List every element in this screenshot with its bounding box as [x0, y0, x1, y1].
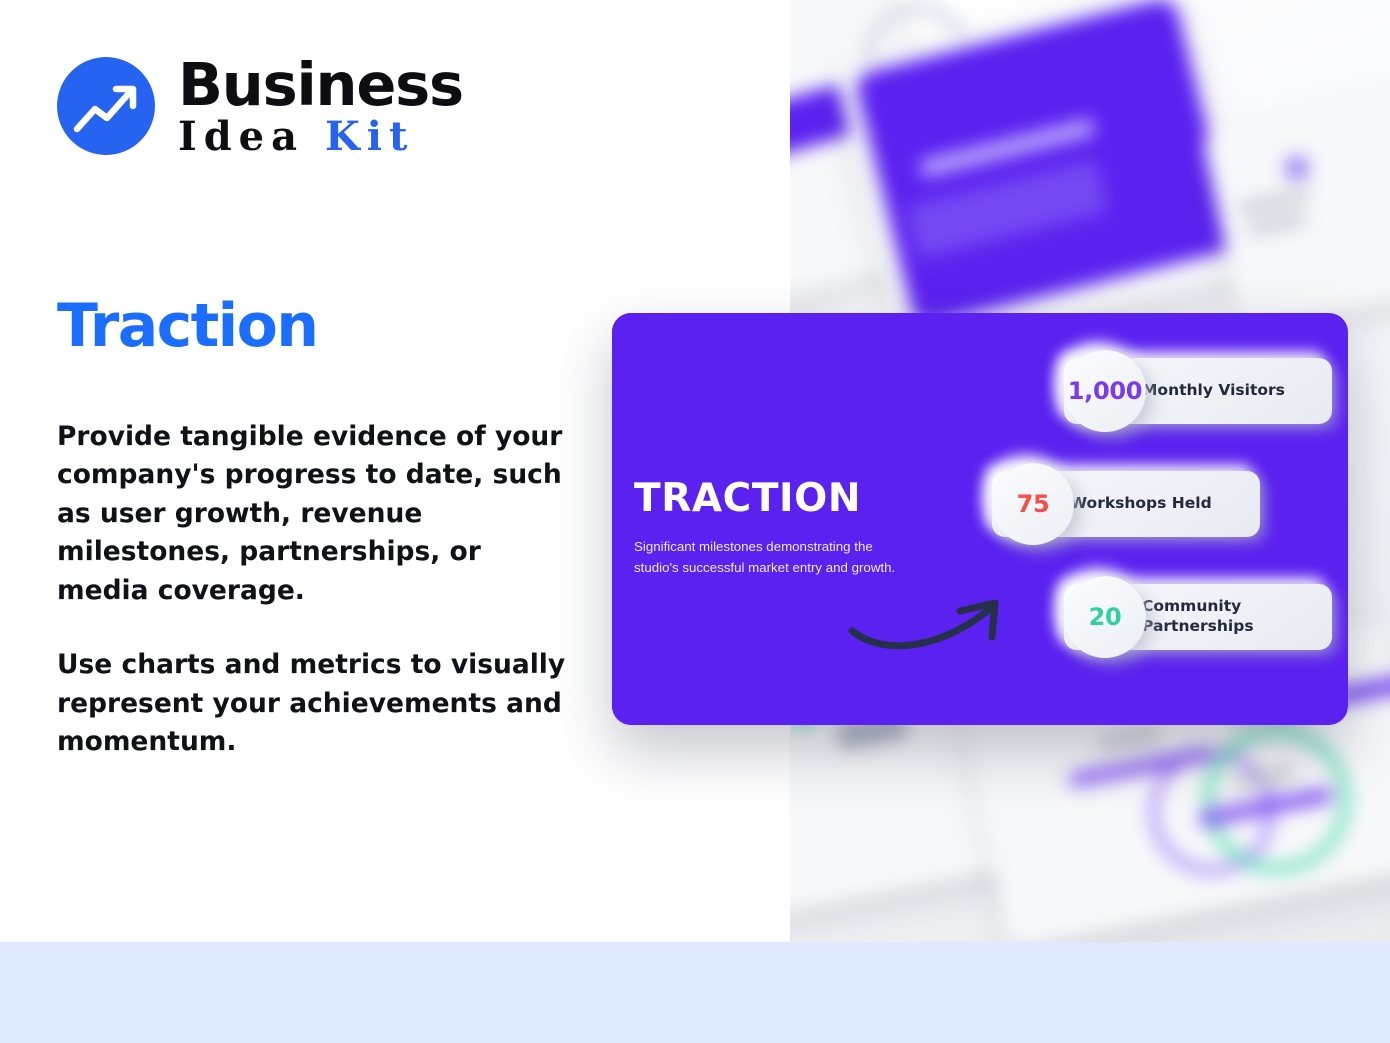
brand-name-kit: Kit [325, 113, 414, 160]
metric-value-1: 1,000 [1068, 377, 1142, 405]
metric-bubble-3: 20 [1064, 576, 1146, 658]
bg-card-right [1202, 89, 1390, 330]
metric-label-3: Community Partnerships [1142, 597, 1272, 637]
page-title: Traction [57, 296, 317, 356]
brand-name-idea: Idea [178, 113, 304, 160]
metric-bubble-1: 1,000 [1064, 350, 1146, 432]
paragraph-2: Use charts and metrics to visually repre… [57, 646, 567, 761]
brand-name-line1: Business [178, 55, 463, 114]
metric-value-2: 75 [1017, 490, 1050, 518]
metrics-list: Monthly Visitors 1,000 Workshops Held 75 [612, 313, 1348, 725]
metric-label-1: Monthly Visitors [1142, 381, 1285, 401]
brand-wordmark: Business Idea Kit [178, 55, 463, 157]
traction-slide-card[interactable]: TRACTION Significant milestones demonstr… [612, 313, 1348, 725]
body-copy: Provide tangible evidence of your compan… [57, 418, 567, 761]
metric-value-3: 20 [1089, 603, 1122, 631]
bg-dot-purple [1285, 156, 1309, 180]
brand-name-line2: Idea Kit [178, 117, 463, 157]
paragraph-1: Provide tangible evidence of your compan… [57, 418, 567, 610]
trending-up-arrow-icon [57, 57, 155, 155]
metric-bubble-2: 75 [992, 463, 1074, 545]
bottom-color-band [0, 942, 1390, 1043]
brand-logo[interactable]: Business Idea Kit [57, 55, 463, 157]
metric-label-2: Workshops Held [1070, 494, 1212, 514]
slide-page: Business Idea Kit Traction Provide tangi… [0, 0, 1390, 1043]
